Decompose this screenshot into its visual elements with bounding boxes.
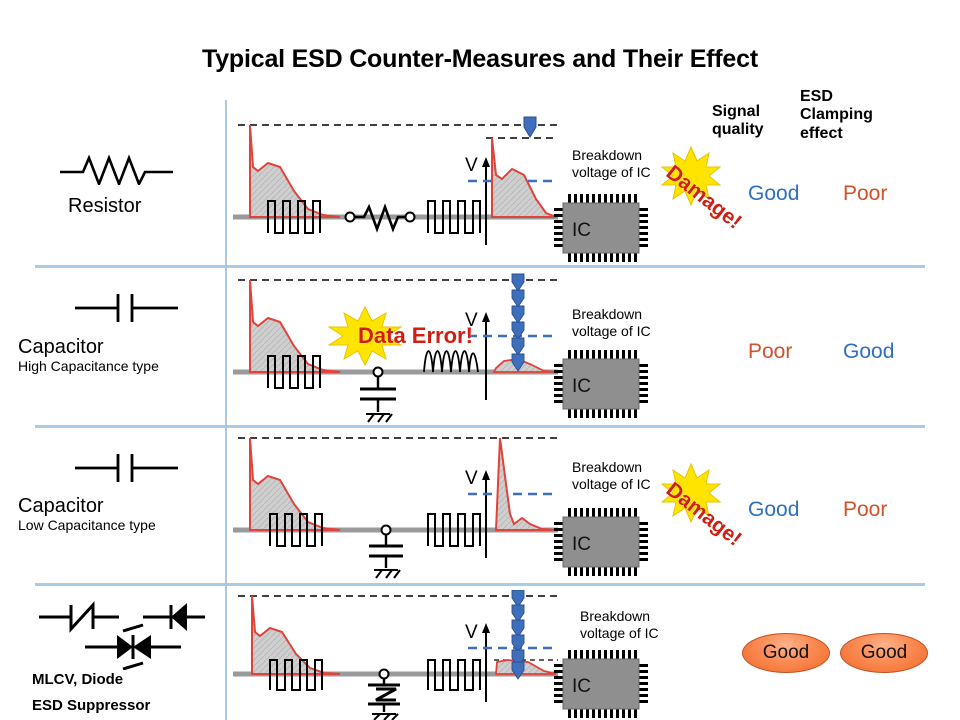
row-symbol-capacitor-low xyxy=(70,450,185,485)
breakdown-label-row1: Breakdown voltage of IC xyxy=(572,147,651,181)
verdict-signal-quality-row2: Poor xyxy=(748,340,792,364)
clamp-arrow-stack xyxy=(512,274,524,371)
header-esd-clamping-effect: ESD Clamping effect xyxy=(800,88,900,143)
esd-countermeasures-diagram: Typical ESD Counter-Measures and Their E… xyxy=(0,0,960,720)
axis-label-v: V xyxy=(465,155,478,176)
header-signal-quality: Signal quality xyxy=(712,103,792,140)
badge-signal-quality-row4: Good xyxy=(742,633,830,673)
column-separator xyxy=(225,100,227,720)
ic-chip-capacitor-low-row: IC xyxy=(552,506,662,578)
ic-chip-resistor-row: IC xyxy=(552,192,662,264)
verdict-signal-quality-row1: Good xyxy=(748,182,799,206)
row-symbol-capacitor-high xyxy=(70,290,185,325)
verdict-esd-clamping-row2: Good xyxy=(843,340,894,364)
clamp-arrow-stack xyxy=(512,590,524,679)
row-label-esd-suppressor: MLCV, Diode ESD Suppressor xyxy=(32,672,150,715)
svg-text:IC: IC xyxy=(572,676,591,697)
breakdown-label-row3: Breakdown voltage of IC xyxy=(572,459,651,493)
svg-text:IC: IC xyxy=(572,534,591,555)
annotation-damage-row3: Damage! xyxy=(660,462,722,529)
annotation-data-error-row2: Data Error! xyxy=(327,305,403,372)
page-title: Typical ESD Counter-Measures and Their E… xyxy=(0,45,960,74)
breakdown-label-row4: Breakdown voltage of IC xyxy=(580,608,659,642)
svg-text:V: V xyxy=(465,622,478,643)
clamp-arrow xyxy=(524,117,536,137)
annotation-damage-row1: Damage! xyxy=(660,145,722,212)
breakdown-label-row2: Breakdown voltage of IC xyxy=(572,306,651,340)
row-label-resistor: Resistor xyxy=(68,195,141,217)
ic-label: IC xyxy=(572,220,591,241)
row-symbol-resistor xyxy=(55,150,185,185)
badge-label: Good xyxy=(861,642,907,664)
verdict-signal-quality-row3: Good xyxy=(748,498,799,522)
row-label-capacitor-high: Capacitor High Capacitance type xyxy=(18,336,159,375)
svg-text:V: V xyxy=(465,468,478,489)
ic-chip-capacitor-high-row: IC xyxy=(552,348,662,420)
ic-chip-esd-suppressor-row: IC xyxy=(552,648,662,720)
verdict-esd-clamping-row3: Poor xyxy=(843,498,887,522)
row-symbol-esd-suppressor xyxy=(35,595,225,670)
svg-text:IC: IC xyxy=(572,376,591,397)
row-divider-1 xyxy=(35,265,925,268)
verdict-esd-clamping-row1: Poor xyxy=(843,182,887,206)
badge-esd-clamping-row4: Good xyxy=(840,633,928,673)
row-label-capacitor-low: Capacitor Low Capacitance type xyxy=(18,495,156,534)
badge-label: Good xyxy=(763,642,809,664)
